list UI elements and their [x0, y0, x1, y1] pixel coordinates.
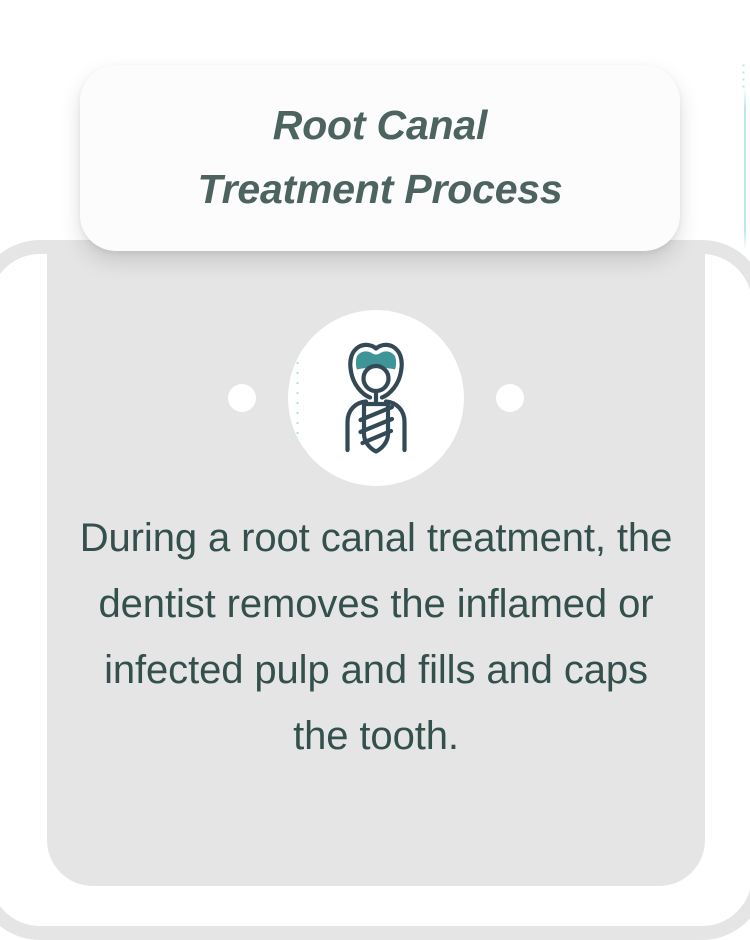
guide-line	[744, 88, 746, 250]
page-title: Root Canal Treatment Process	[179, 94, 580, 221]
bullet-dot-left-icon	[228, 384, 256, 412]
bullet-dot-right-icon	[496, 384, 524, 412]
dashed-connector-icon	[296, 358, 299, 440]
icon-row	[47, 310, 705, 486]
title-card: Root Canal Treatment Process	[80, 65, 680, 251]
icon-badge	[288, 310, 464, 486]
card-body-text: During a root canal treatment, the denti…	[72, 505, 680, 769]
infographic-card-stage: Root Canal Treatment Process	[0, 0, 750, 930]
dentist-tooth-drill-icon	[322, 338, 430, 458]
